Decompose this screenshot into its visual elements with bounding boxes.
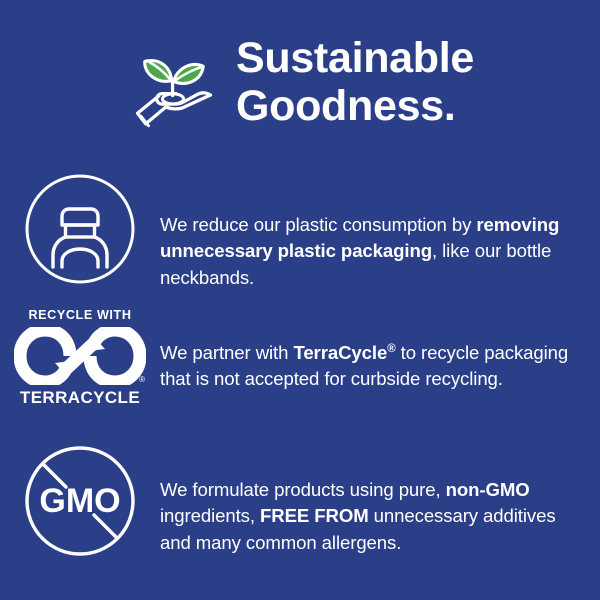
terracycle-top-label: RECYCLE WITH bbox=[14, 308, 146, 323]
terracycle-logo-icon: RECYCLE WITH ® bbox=[14, 308, 146, 407]
feature-row-plastic-text: We reduce our plastic consumption by rem… bbox=[160, 212, 584, 292]
terracycle-registered-mark: ® bbox=[139, 376, 145, 384]
no-gmo-label: GMO bbox=[39, 482, 120, 520]
feature-row-plastic-icon-slot bbox=[0, 173, 160, 285]
headline-line-1: Sustainable bbox=[236, 34, 474, 82]
feature-row-gmo-body: We formulate products using pure, non-GM… bbox=[160, 445, 600, 575]
bottle-in-circle-icon bbox=[24, 173, 136, 285]
feature-row-plastic: We reduce our plastic consumption by rem… bbox=[0, 173, 600, 310]
no-gmo-icon: GMO bbox=[24, 445, 136, 557]
feature-row-terracycle-body: We partner with TerraCycle® to recycle p… bbox=[160, 308, 600, 411]
sustainable-goodness-poster: Sustainable Goodness. We reduce our plas… bbox=[0, 0, 600, 600]
infinity-recycle-arrows-icon bbox=[14, 327, 146, 385]
hand-holding-sprout-icon bbox=[126, 36, 222, 132]
headline-line-2: Goodness. bbox=[236, 82, 474, 130]
terracycle-bottom-label: TERRACYCLE bbox=[14, 388, 146, 407]
feature-row-terracycle-icon-slot: RECYCLE WITH ® bbox=[0, 308, 160, 407]
header-title: Sustainable Goodness. bbox=[236, 34, 474, 130]
feature-row-terracycle-text: We partner with TerraCycle® to recycle p… bbox=[160, 340, 584, 393]
terracycle-infinity-mark: ® bbox=[14, 327, 146, 385]
feature-row-gmo-icon-slot: GMO bbox=[0, 445, 160, 557]
feature-row-gmo: GMO We formulate products using pure, no… bbox=[0, 445, 600, 575]
feature-row-gmo-text: We formulate products using pure, non-GM… bbox=[160, 477, 584, 557]
feature-row-terracycle: RECYCLE WITH ® bbox=[0, 308, 600, 411]
feature-row-plastic-body: We reduce our plastic consumption by rem… bbox=[160, 173, 600, 310]
header: Sustainable Goodness. bbox=[0, 22, 600, 142]
